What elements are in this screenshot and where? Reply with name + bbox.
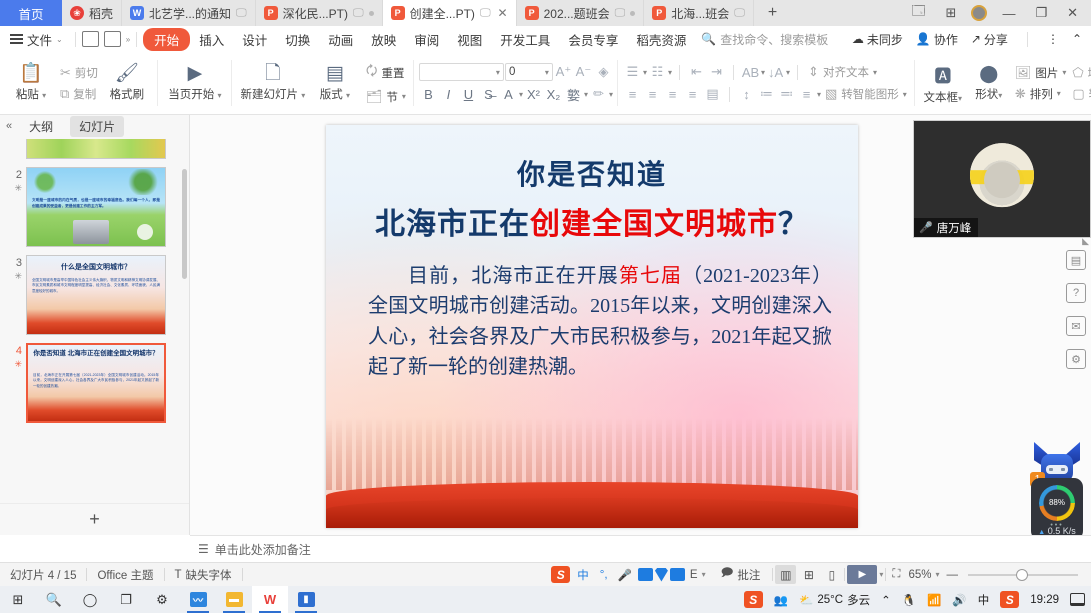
speaker-notes-area[interactable]: ☰ 单击此处添加备注 [190, 535, 1091, 562]
tab-document-1[interactable]: W 北艺学...的通知 🖵 [122, 0, 256, 26]
slide-sorter-icon[interactable]: ⊞ [798, 565, 819, 584]
qq-penguin-icon[interactable]: 🐧 [902, 593, 916, 607]
font-color-icon[interactable]: A [499, 85, 518, 104]
people-icon[interactable]: 👥 [774, 593, 788, 607]
file-menu-label: 文件 [27, 30, 52, 49]
video-conference-panel[interactable]: 🎤 唐万峰 ◣ [913, 120, 1091, 238]
unsaved-dot-icon [369, 11, 374, 16]
panel-icon[interactable]: ▤ [1066, 250, 1086, 270]
chevron-up-icon[interactable]: ⌃ [881, 593, 891, 607]
collapse-ribbon-icon[interactable]: ⌃ [1072, 32, 1082, 46]
wps-presentation-icon: P [264, 6, 278, 20]
ime-lang-icon[interactable]: 中 [572, 567, 594, 583]
sync-status-button[interactable]: ☁ 未同步 [852, 31, 903, 48]
thumb-body: 文明是一座城市的内在气质，也是一座城市的幸福底色。我们每一个人，即是创建成果的受… [32, 198, 160, 209]
notes-placeholder: 单击此处添加备注 [215, 541, 311, 558]
align-text-icon: ⇕ [808, 64, 819, 80]
justify-icon[interactable]: ≡ [683, 85, 702, 104]
wps-writer-icon: W [130, 6, 144, 20]
ime-keyboard-icon[interactable] [638, 568, 653, 581]
close-window-button[interactable]: ✕ [1062, 5, 1083, 21]
section-icon: 🗂 [366, 89, 383, 105]
chevron-down-icon[interactable]: ▾ [643, 68, 647, 77]
ribbon-group-paragraph: ☰ ▾ ☷ ▾ ⇤ ⇥ AB ▾ ↓A ▾ ⇕ 对齐文本 ▾ [618, 52, 915, 114]
picture-button[interactable]: 🖼 图片 ▾ [1012, 64, 1070, 82]
more-options-icon[interactable]: ⋮ [1047, 32, 1059, 46]
layout-icon: ▤ [326, 64, 344, 83]
subscript-icon[interactable]: X₂ [544, 85, 563, 104]
textbox-icon: 🅰 [934, 62, 951, 87]
weather-icon: ⛅ [799, 593, 813, 607]
feedback-icon[interactable]: ✉ [1066, 316, 1086, 336]
divider [136, 32, 137, 47]
close-icon[interactable]: ✕ [498, 6, 508, 20]
convert-to-smartart-button[interactable]: ▧ 转智能图形 ▾ [822, 85, 910, 103]
thumbnail-list[interactable]: 2✳ 文明是一座城市的内在气质，也是一座城市的幸福底色。我们每一个人，即是创建成… [0, 139, 189, 501]
chevron-down-icon[interactable]: ▾ [668, 68, 672, 77]
thumb-body: 目前，北海市正在开展第七届（2021-2023年）全国文明城市创建活动。2015… [33, 373, 159, 389]
weather-widget[interactable]: ⛅ 25°C 多云 [799, 592, 870, 608]
ribbon-group-slides: 🗋 新建幻灯片 ▾ ▤ 版式 ▾ 🗘 重置 🗂 节 ▾ [232, 52, 414, 114]
character-style-icon[interactable]: 嬜 [564, 85, 583, 104]
ribbon-group-font: ▾ 0 ▾ A⁺ A⁻ ◈ B I U S̶ A ▾ [414, 52, 618, 114]
wifi-icon[interactable]: 📶 [927, 593, 941, 607]
distribute-icon[interactable]: ▤ [703, 85, 722, 104]
smartart-icon: ▧ [825, 86, 837, 102]
cloud-sync-icon: ☁ [852, 32, 864, 46]
ime-mic-icon[interactable]: 🎤 [614, 568, 636, 582]
list-level-b-icon[interactable]: ≕ [777, 85, 796, 104]
tab-document-3-active[interactable]: P 创建全...PT) 🖵 ✕ [383, 0, 517, 26]
cut-button[interactable]: ✂ 剪切 [57, 64, 101, 82]
chevron-down-icon: ⌄ [56, 35, 63, 44]
numbering-icon[interactable]: ☷ [648, 63, 667, 82]
new-slide-icon: 🗋 [265, 64, 280, 83]
ribbon-right-actions: ☁ 未同步 👤 协作 ↗ 分享 ⋮ ⌃ [852, 31, 1091, 48]
paste-button[interactable]: 📋 粘贴 ▾ [5, 64, 57, 102]
resize-handle-icon[interactable]: ◣ [1082, 236, 1089, 247]
slide-thumbnail[interactable]: 文明是一座城市的内在气质，也是一座城市的幸福底色。我们每一个人，即是创建成果的受… [26, 167, 166, 247]
layout-button[interactable]: ▤ 版式 ▾ [309, 64, 361, 102]
wps-presentation-icon: P [525, 6, 539, 20]
help-icon[interactable]: ? [1066, 283, 1086, 303]
fit-to-window-icon[interactable]: ⛶ [888, 568, 904, 581]
window-controls: 🗔 ⊞ — ❐ ✕ [906, 0, 1091, 26]
decrease-indent-icon[interactable]: ⇤ [687, 63, 706, 82]
ime-skin-icon[interactable] [655, 568, 668, 582]
increase-indent-icon[interactable]: ⇥ [707, 63, 726, 82]
outline-button[interactable]: ▢ 轮廓 ▾ [1069, 85, 1091, 103]
tab-label: 北艺学...的通知 [149, 5, 231, 22]
current-slide[interactable]: 你是否知道 北海市正在创建全国文明城市？ 目前，北海市正在开展第七届（2021-… [326, 125, 858, 528]
line-spacing-icon[interactable]: ↕ [737, 85, 756, 104]
save-icon[interactable] [82, 31, 99, 47]
chevron-down-icon[interactable]: ▾ [584, 90, 588, 99]
chevron-down-icon[interactable]: ▾ [761, 68, 765, 77]
zoom-slider[interactable] [968, 574, 1078, 576]
scissors-icon: ✂ [60, 65, 71, 81]
notes-icon: ☰ [198, 542, 209, 556]
reading-view-icon[interactable]: ▯ [821, 565, 842, 584]
collaborate-button[interactable]: 👤 协作 [916, 31, 958, 48]
settings-icon[interactable]: ⚙ [1066, 349, 1086, 369]
tab-document-4[interactable]: P 202...题班会 🖵 [517, 0, 645, 26]
start-icon[interactable]: ⊞ [0, 586, 36, 613]
thumbnail-item[interactable]: 3✳ 什么是全国文明城市？ 全国文明城市是高举中国特色社会主义伟大旗帜，物质文明… [0, 251, 189, 339]
tab-start[interactable]: 开始 [143, 28, 190, 51]
ribbon-group-drawing: 🅰 文本框▾ ⬤ 形状▾ 🖼 图片 ▾ ❋ 排列 ▾ [915, 52, 1091, 114]
settings-icon[interactable]: ⚙ [144, 586, 180, 613]
list-level-a-icon[interactable]: ≔ [757, 85, 776, 104]
app-doc-icon[interactable]: ▮ [288, 586, 324, 613]
document-tab-bar: 首页 ❀ 稻壳 W 北艺学...的通知 🖵 P 深化民...PT) 🖵 P 创建… [0, 0, 1091, 26]
superscript-icon[interactable]: X² [524, 85, 543, 104]
thumbnail-item-selected[interactable]: 4✳ 你是否知道 北海市正在创建全国文明城市？ 目前，北海市正在开展第七届（20… [0, 339, 189, 427]
ime-extra-icon[interactable]: E▾ [687, 569, 709, 581]
font-name-input[interactable]: ▾ [419, 63, 504, 81]
status-bar-right: S 中 °, 🎤 E▾ 🗩 批注 ▥ ⊞ ▯ ▶ ▾ ⛶ 65%▾ [551, 565, 1091, 584]
city-skyline-graphic [326, 418, 858, 490]
file-menu-button[interactable]: 文件 ⌄ [0, 30, 69, 49]
wps-office-icon[interactable]: W [252, 586, 288, 613]
tab-label: 北海...班会 [671, 5, 729, 22]
monitor-icon: 🖵 [236, 7, 247, 20]
slide-body-text[interactable]: 目前，北海市正在开展第七届（2021-2023年）全国文明城市创建活动。2015… [368, 261, 832, 383]
tab-design[interactable]: 设计 [233, 28, 276, 51]
chevron-down-icon: ▾ [402, 92, 406, 101]
chevron-down-icon[interactable]: ▾ [786, 68, 790, 77]
app-blue-icon[interactable]: 〰 [180, 586, 216, 613]
missing-font-button[interactable]: T 缺失字体 [165, 567, 242, 583]
align-right-icon[interactable]: ≡ [663, 85, 682, 104]
outline-icon: ▢ [1072, 86, 1084, 102]
slide-pane-header: « 大纲 幻灯片 [0, 115, 189, 137]
sogou-tray-icon[interactable]: S [744, 591, 763, 608]
add-slide-button[interactable]: + [0, 503, 189, 535]
align-text-button[interactable]: ⇕ 对齐文本 ▾ [805, 63, 880, 81]
ime-tray-icon[interactable]: 中 [978, 592, 990, 608]
tab-review[interactable]: 审阅 [405, 28, 448, 51]
tab-insert[interactable]: 插入 [190, 28, 233, 51]
sogou-tray-icon-2[interactable]: S [1000, 591, 1019, 608]
right-side-rail: ▤ ? ✉ ⚙ [1065, 250, 1087, 369]
thumb-title: 什么是全国文明城市？ [27, 262, 165, 272]
tab-label: 202...题班会 [544, 5, 610, 22]
share-icon: ↗ [971, 32, 981, 46]
slide-thumbnail[interactable]: 什么是全国文明城市？ 全国文明城市是高举中国特色社会主义伟大旗帜，物质文明和精神… [26, 255, 166, 335]
picture-icon: 🖼 [1015, 65, 1032, 81]
fill-button[interactable]: ⬠ 填充 ▾ [1069, 64, 1091, 82]
chevron-down-icon[interactable]: ▾ [609, 90, 613, 99]
apps-grid-icon[interactable]: ⊞ [941, 5, 962, 21]
fill-icon: ⬠ [1072, 65, 1083, 81]
arrange-icon: ❋ [1015, 86, 1026, 102]
mic-muted-icon: 🎤 [919, 221, 933, 234]
format-painter-icon: 🖌 [115, 64, 139, 83]
chevron-down-icon[interactable]: ▾ [817, 90, 821, 99]
thumbnail-item[interactable] [0, 139, 189, 163]
task-view-icon[interactable]: ❐ [108, 586, 144, 613]
tab-devtools[interactable]: 开发工具 [491, 28, 559, 51]
chevron-down-icon[interactable]: ▾ [879, 570, 883, 579]
status-bar: 幻灯片 4 / 15 Office 主题 T 缺失字体 S 中 °, 🎤 E▾ … [0, 562, 1091, 586]
normal-view-icon[interactable]: ▥ [775, 565, 796, 584]
slide-thumbnail[interactable]: 你是否知道 北海市正在创建全国文明城市？ 目前，北海市正在开展第七届（2021-… [26, 343, 166, 423]
title-line-2: 北海市正在创建全国文明城市？ [326, 199, 858, 243]
shrink-font-icon[interactable]: A⁻ [574, 63, 593, 82]
daoke-icon: ❀ [70, 6, 84, 20]
wps-presentation-icon: P [391, 6, 405, 20]
start-slideshow-button[interactable]: ▶ [847, 565, 877, 584]
sort-icon[interactable]: ↓A [766, 63, 785, 82]
ribbon-tab-row: 文件 ⌄ » 开始 插入 设计 切换 动画 放映 审阅 视图 开发工具 会员专享… [0, 26, 1091, 52]
search-placeholder: 查找命令、搜索模板 [720, 31, 828, 48]
slide-thumbnail-pane: « 大纲 幻灯片 2✳ 文明是一座城市的内在气 [0, 115, 190, 535]
wps-presentation-icon: P [652, 6, 666, 20]
search-icon[interactable]: 🔍 [36, 586, 72, 613]
comment-button[interactable]: 🗩 批注 [711, 565, 771, 584]
monitor-icon: 🖵 [615, 7, 626, 20]
paste-icon: 📋 [19, 64, 43, 83]
bold-icon[interactable]: B [419, 85, 438, 104]
collapse-pane-icon[interactable]: « [6, 120, 12, 132]
font-size-input[interactable]: 0 ▾ [505, 63, 553, 81]
strikethrough-icon[interactable]: S̶ [479, 85, 498, 104]
tab-transition[interactable]: 切换 [276, 28, 319, 51]
thumb-body: 全国文明城市是高举中国特色社会主义伟大旗帜，物质文明和精神文明协调发展、市民文明… [32, 278, 160, 294]
align-left-icon[interactable]: ≡ [623, 85, 642, 104]
chevron-down-icon[interactable]: ▾ [519, 90, 523, 99]
theme-label[interactable]: Office 主题 [87, 567, 163, 583]
shapes-button[interactable]: ⬤ 形状▾ [966, 64, 1012, 102]
ime-punctuation-icon[interactable]: °, [596, 569, 612, 581]
tab-daoke-resource[interactable]: 稻壳资源 [627, 28, 695, 51]
undo-icon[interactable] [104, 31, 121, 47]
screen-split-icon[interactable]: 🗔 [906, 2, 930, 24]
volume-icon[interactable]: 🔊 [952, 593, 966, 607]
participant-avatar [970, 143, 1034, 207]
start-from-current-button[interactable]: ▶ 当页开始 ▾ [163, 64, 227, 102]
tab-daoke[interactable]: ❀ 稻壳 [62, 0, 122, 26]
slide-number: 2✳ [0, 167, 22, 194]
notification-icon[interactable] [1070, 593, 1085, 606]
search-input[interactable]: 🔍 查找命令、搜索模板 [701, 31, 828, 48]
ribbon-group-clipboard: 📋 粘贴 ▾ ✂ 剪切 ⧉ 复制 🖌 格式刷 [0, 52, 158, 114]
ime-apps-icon[interactable] [670, 568, 685, 581]
network-monitor-widget[interactable]: 1 88% ••• ▲ 0.5 K/s ▼ 0.3 K/s [1031, 442, 1083, 540]
highlight-icon[interactable]: ✏ [589, 85, 608, 104]
section-button[interactable]: 🗂 节 ▾ [363, 88, 409, 106]
ribbon-group-slideshow: ▶ 当页开始 ▾ [158, 52, 232, 114]
format-painter-button[interactable]: 🖌 格式刷 [101, 64, 153, 102]
play-circle-icon: ▶ [188, 64, 203, 83]
tab-slides[interactable]: 幻灯片 [70, 116, 124, 137]
chevron-down-icon: ▾ [545, 68, 549, 77]
comment-icon: 🗩 [721, 565, 734, 584]
sogou-ime-logo-icon[interactable]: S [551, 566, 570, 583]
red-ribbon-graphic-2 [326, 498, 858, 528]
unsaved-dot-icon [630, 11, 635, 16]
reset-icon: 🗘 [366, 62, 378, 84]
title-line-1: 你是否知道 [326, 153, 858, 193]
cortana-icon[interactable]: ◯ [72, 586, 108, 613]
slide-count-label: 幻灯片 4 / 15 [0, 567, 86, 583]
tab-slideshow[interactable]: 放映 [362, 28, 405, 51]
bullets-icon[interactable]: ☰ [623, 63, 642, 82]
collaborate-icon: 👤 [916, 32, 931, 46]
slide-number: 3✳ [0, 255, 22, 282]
plus-icon: + [768, 4, 777, 22]
file-explorer-icon[interactable]: ▬ [216, 586, 252, 613]
thumbnail-scrollbar[interactable] [182, 169, 187, 279]
ribbon-toolbar: 📋 粘贴 ▾ ✂ 剪切 ⧉ 复制 🖌 格式刷 ▶ 当页开始 [0, 52, 1091, 115]
tab-animation[interactable]: 动画 [319, 28, 362, 51]
new-tab-button[interactable]: + [754, 0, 791, 26]
slide-title[interactable]: 你是否知道 北海市正在创建全国文明城市？ [326, 153, 858, 243]
monitor-icon: 🖵 [480, 7, 491, 20]
clock-label[interactable]: 19:29 [1030, 594, 1059, 606]
tab-document-5[interactable]: P 北海...班会 🖵 [644, 0, 754, 26]
assistant-body[interactable]: 88% ••• ▲ 0.5 K/s ▼ 0.3 K/s [1031, 478, 1083, 540]
zoom-level-label[interactable]: 65%▾ [906, 569, 941, 581]
thumb-title: 你是否知道 北海市正在创建全国文明城市？ [28, 349, 164, 359]
monitor-icon: 🖵 [353, 7, 364, 20]
textbox-button[interactable]: 🅰 文本框▾ [920, 62, 966, 105]
home-tab[interactable]: 首页 [0, 0, 62, 26]
grow-font-icon[interactable]: A⁺ [554, 63, 573, 82]
shapes-icon: ⬤ [979, 64, 998, 84]
monitor-icon: 🖵 [734, 7, 745, 20]
tab-label: 稻壳 [89, 5, 113, 22]
italic-icon[interactable]: I [439, 85, 458, 104]
tab-label: 深化民...PT) [283, 5, 348, 22]
slide-number: 4✳ [0, 343, 22, 370]
usage-percent: 88% [1031, 492, 1083, 509]
plus-icon: + [89, 509, 100, 530]
underline-icon[interactable]: U [459, 85, 478, 104]
list-level-c-icon[interactable]: ≡ [797, 85, 816, 104]
participant-name-badge: 🎤 唐万峰 [914, 218, 978, 237]
text-direction-icon[interactable]: AB [741, 63, 760, 82]
clear-formatting-icon[interactable]: ◈ [594, 63, 613, 82]
system-tray: S 👥 ⛅ 25°C 多云 ⌃ 🐧 📶 🔊 中 S 19:29 [744, 591, 1091, 608]
tab-outline[interactable]: 大纲 [20, 116, 62, 137]
share-button[interactable]: ↗ 分享 [971, 31, 1008, 48]
chevron-down-icon: ▾ [496, 68, 500, 77]
arrange-button[interactable]: ❋ 排列 ▾ [1012, 85, 1070, 103]
tab-label: 创建全...PT) [410, 5, 475, 22]
zoom-slider-handle[interactable] [1016, 569, 1028, 581]
divider [1027, 32, 1028, 47]
home-tab-label: 首页 [18, 4, 43, 23]
copy-button[interactable]: ⧉ 复制 [57, 85, 101, 103]
wps-presentation-window: 首页 ❀ 稻壳 W 北艺学...的通知 🖵 P 深化民...PT) 🖵 P 创建… [0, 0, 1091, 613]
zoom-out-button[interactable]: — [944, 569, 962, 581]
tab-member[interactable]: 会员专享 [559, 28, 627, 51]
hamburger-icon [10, 32, 23, 47]
copy-icon: ⧉ [60, 86, 69, 102]
user-avatar[interactable] [971, 5, 987, 21]
tab-view[interactable]: 视图 [448, 28, 491, 51]
tab-document-2[interactable]: P 深化民...PT) 🖵 [256, 0, 383, 26]
quick-access-overflow[interactable]: » [126, 35, 130, 44]
reset-button[interactable]: 🗘 重置 [363, 61, 409, 85]
restore-button[interactable]: ❐ [1030, 5, 1052, 21]
search-icon: 🔍 [701, 32, 716, 46]
missing-font-icon: T [175, 569, 182, 581]
divider [75, 32, 76, 47]
minimize-button[interactable]: — [997, 6, 1020, 21]
slide-thumbnail[interactable] [26, 139, 166, 159]
align-center-icon[interactable]: ≡ [643, 85, 662, 104]
new-slide-button[interactable]: 🗋 新建幻灯片 ▾ [237, 64, 309, 102]
thumbnail-item[interactable]: 2✳ 文明是一座城市的内在气质，也是一座城市的幸福底色。我们每一个人，即是创建成… [0, 163, 189, 251]
windows-taskbar: ⊞ 🔍 ◯ ❐ ⚙ 〰 ▬ W ▮ S 👥 ⛅ 25°C 多云 ⌃ 🐧 📶 [0, 586, 1091, 613]
